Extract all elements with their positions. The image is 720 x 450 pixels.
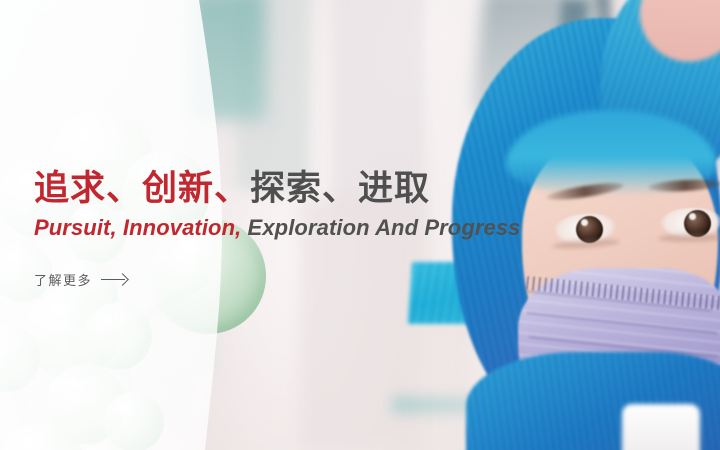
page-title: 追求、创新、探索、进取 (34, 168, 594, 209)
subhead-red-segment: Pursuit, Innovation, (34, 215, 241, 240)
iris-right (684, 210, 711, 237)
headline-red-segment: 追求、创新、 (34, 169, 250, 208)
lab-bottle (622, 404, 700, 450)
eye-glint-right (689, 213, 696, 220)
hero-banner: 追求、创新、探索、进取 Pursuit, Innovation, Explora… (0, 0, 720, 450)
page-subtitle: Pursuit, Innovation, Exploration And Pro… (34, 215, 594, 241)
headline-gray-segment: 探索、进取 (250, 169, 430, 208)
arrow-right-icon (101, 274, 127, 285)
hero-text-block: 追求、创新、探索、进取 Pursuit, Innovation, Explora… (34, 168, 594, 290)
subhead-gray-segment: Exploration And Progress (241, 215, 520, 240)
learn-more-label: 了解更多 (34, 270, 92, 289)
learn-more-link[interactable]: 了解更多 (34, 270, 127, 289)
